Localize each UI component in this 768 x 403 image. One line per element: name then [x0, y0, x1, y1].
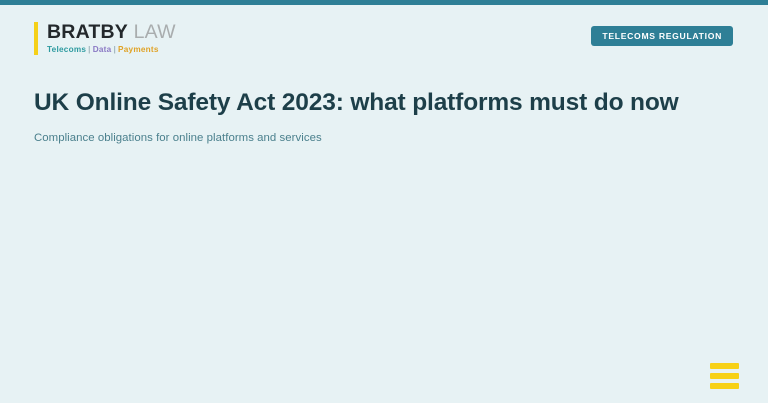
page-title: UK Online Safety Act 2023: what platform…	[34, 88, 734, 118]
hamburger-bar-3	[710, 383, 739, 389]
hamburger-bar-1	[710, 363, 739, 369]
tagline-practice-telecoms: Telecoms	[47, 45, 86, 54]
slide-body-canvas	[34, 165, 734, 345]
hamburger-menu-icon[interactable]	[710, 363, 739, 389]
brand-name: BRATBY LAW	[47, 22, 176, 43]
brand-name-secondary: LAW	[128, 21, 176, 43]
tagline-practice-payments: Payments	[118, 45, 159, 54]
category-badge[interactable]: TELECOMS REGULATION	[591, 26, 733, 46]
presentation-slide: BRATBY LAW Telecoms|Data|Payments TELECO…	[0, 0, 768, 403]
brand-name-primary: BRATBY	[47, 21, 128, 43]
hamburger-bar-2	[710, 373, 739, 379]
brand-logo[interactable]: BRATBY LAW Telecoms|Data|Payments	[34, 22, 176, 55]
brand-tagline: Telecoms|Data|Payments	[47, 45, 176, 55]
brand-name-secondary-text: LAW	[134, 21, 176, 43]
title-block: UK Online Safety Act 2023: what platform…	[34, 88, 734, 146]
page-subtitle: Compliance obligations for online platfo…	[34, 118, 734, 146]
brand-accent-bar	[34, 22, 38, 55]
slide-header: BRATBY LAW Telecoms|Data|Payments TELECO…	[0, 5, 768, 67]
tagline-practice-data: Data	[93, 45, 112, 54]
brand-text-group: BRATBY LAW Telecoms|Data|Payments	[47, 22, 176, 55]
